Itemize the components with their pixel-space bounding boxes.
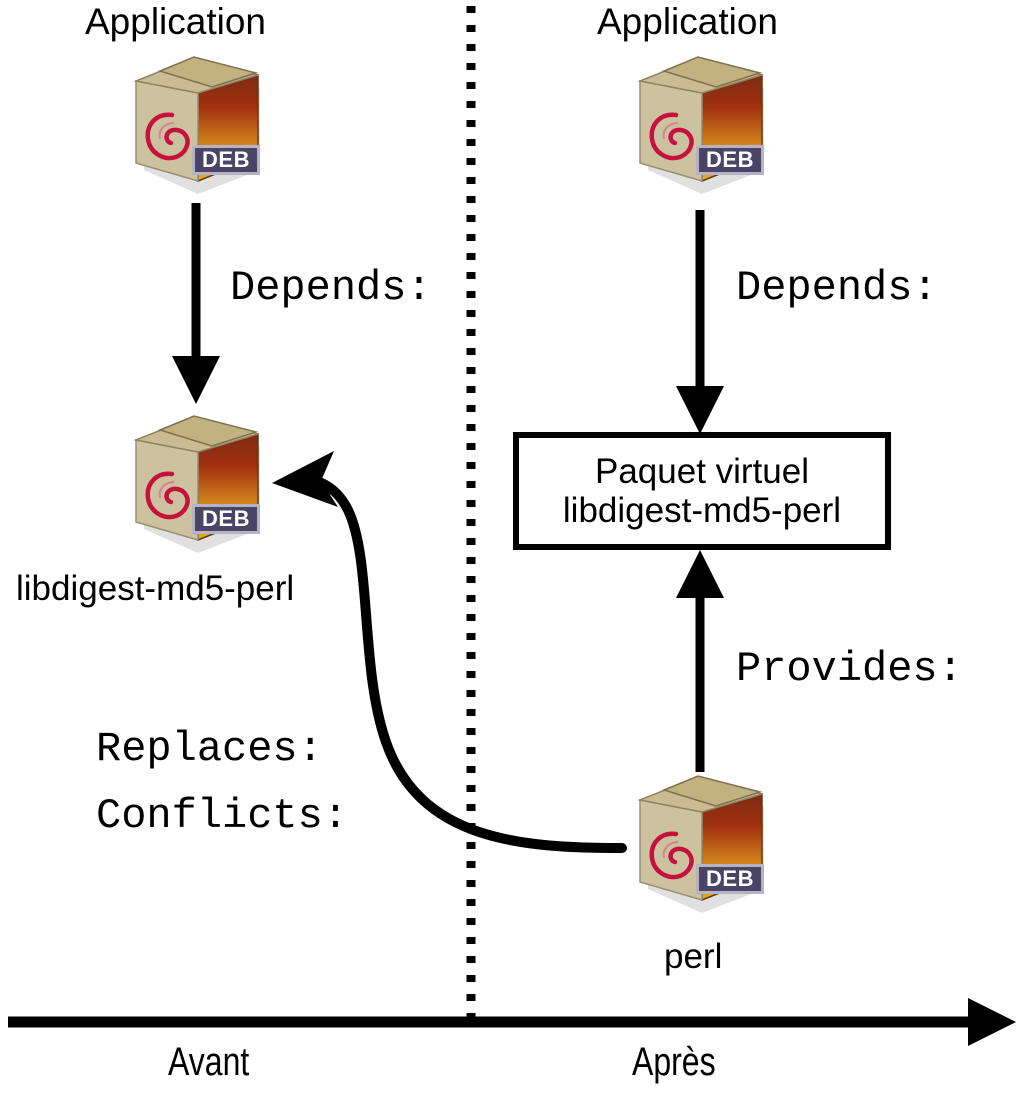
debian-virtual-package-diagram: Application Application bbox=[0, 0, 1024, 1094]
replaces-label: Replaces: bbox=[96, 728, 323, 770]
timeline-label-after: Après bbox=[632, 1040, 716, 1085]
deb-badge: DEB bbox=[192, 145, 260, 175]
virtual-package-line2: libdigest-md5-perl bbox=[563, 491, 841, 530]
deb-badge: DEB bbox=[696, 145, 764, 175]
provides-label: Provides: bbox=[736, 648, 963, 690]
after-application-package-icon: DEB bbox=[624, 53, 774, 198]
before-libdigest-package-caption: libdigest-md5-perl bbox=[16, 570, 294, 608]
after-perl-package-caption: perl bbox=[664, 938, 722, 976]
svg-text:DEB: DEB bbox=[706, 147, 754, 172]
before-application-package-icon: DEB bbox=[120, 53, 270, 198]
before-libdigest-package-icon: DEB bbox=[120, 412, 270, 557]
timeline-axis bbox=[8, 998, 1016, 1046]
deb-badge: DEB bbox=[192, 504, 260, 534]
conflicts-label: Conflicts: bbox=[96, 795, 348, 837]
virtual-package-line1: Paquet virtuel bbox=[595, 452, 809, 491]
svg-text:DEB: DEB bbox=[202, 147, 250, 172]
depends-label-before: Depends: bbox=[230, 267, 432, 309]
virtual-package-box: Paquet virtuel libdigest-md5-perl bbox=[513, 432, 891, 550]
arrow-depends-after bbox=[676, 210, 724, 434]
after-application-title: Application bbox=[597, 2, 778, 42]
depends-label-after: Depends: bbox=[736, 267, 938, 309]
before-application-title: Application bbox=[85, 2, 266, 42]
after-perl-package-icon: DEB bbox=[624, 772, 774, 917]
arrow-depends-before bbox=[172, 203, 220, 404]
svg-text:DEB: DEB bbox=[706, 866, 754, 891]
arrow-provides bbox=[676, 550, 724, 772]
svg-text:DEB: DEB bbox=[202, 506, 250, 531]
deb-badge: DEB bbox=[696, 864, 764, 894]
timeline-label-before: Avant bbox=[168, 1040, 249, 1085]
